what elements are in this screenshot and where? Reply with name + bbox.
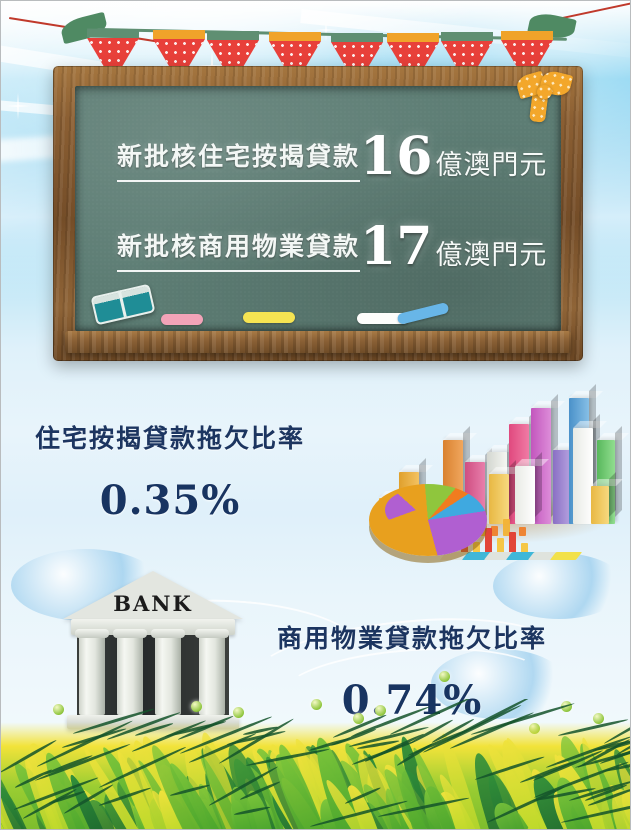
board-row-value: 16 億澳門元 (360, 132, 551, 182)
stat-residential-delinquency: 住宅按揭貸款拖欠比率 0.35% (35, 419, 305, 524)
grass-decoration (1, 699, 631, 829)
chart-bar (573, 428, 593, 524)
board-row-number: 17 (360, 222, 432, 271)
mini-bar (485, 528, 492, 554)
stat-label: 商用物業貸款拖欠比率 (277, 619, 547, 655)
mini-bar (491, 526, 498, 536)
flag-cap (387, 33, 439, 42)
flag-cap (441, 32, 493, 41)
chart-bar (489, 474, 509, 524)
board-row-residential: 新批核住宅按揭貸款 16 億澳門元 (117, 132, 535, 182)
pie-exploded-slice (385, 490, 447, 530)
board-row-number: 16 (360, 132, 432, 181)
stat-value: 0.35% (35, 477, 305, 524)
chart-strip (550, 552, 582, 560)
chart-illustration (369, 401, 624, 566)
mini-bar (509, 532, 516, 554)
chart-bar (515, 466, 535, 524)
mini-bar (519, 527, 526, 536)
board-row-label: 新批核住宅按揭貸款 (117, 137, 360, 182)
bank-sign-label: BANK (63, 591, 243, 616)
board-row-value: 17 億澳門元 (360, 222, 551, 272)
flag-cap (501, 31, 553, 40)
board-row-unit: 億澳門元 (435, 233, 547, 272)
ribbon-bow-icon (517, 72, 575, 120)
infographic-poster: 新批核住宅按揭貸款 16 億澳門元 新批核商用物業貸款 17 億澳門元 (0, 0, 631, 830)
board-row-commercial: 新批核商用物業貸款 17 億澳門元 (117, 222, 535, 272)
pink-chalk-icon (161, 314, 203, 325)
chart-bar (591, 486, 609, 524)
stat-label: 住宅按揭貸款拖欠比率 (35, 419, 305, 455)
chalk-ledge (65, 331, 571, 353)
board-row-label: 新批核商用物業貸款 (117, 227, 360, 272)
yellow-chalk-icon (243, 312, 295, 323)
blackboard: 新批核住宅按揭貸款 16 億澳門元 新批核商用物業貸款 17 億澳門元 (53, 66, 583, 361)
sparkle-icon (17, 92, 19, 119)
blackboard-surface: 新批核住宅按揭貸款 16 億澳門元 新批核商用物業貸款 17 億澳門元 (75, 86, 561, 331)
board-row-unit: 億澳門元 (435, 143, 547, 182)
flag-cap (331, 33, 383, 42)
flag-cap (269, 32, 321, 41)
flag-cap (87, 29, 139, 39)
flag-cap (207, 31, 259, 40)
bead-icon (439, 671, 450, 682)
flag-cap (153, 30, 205, 39)
